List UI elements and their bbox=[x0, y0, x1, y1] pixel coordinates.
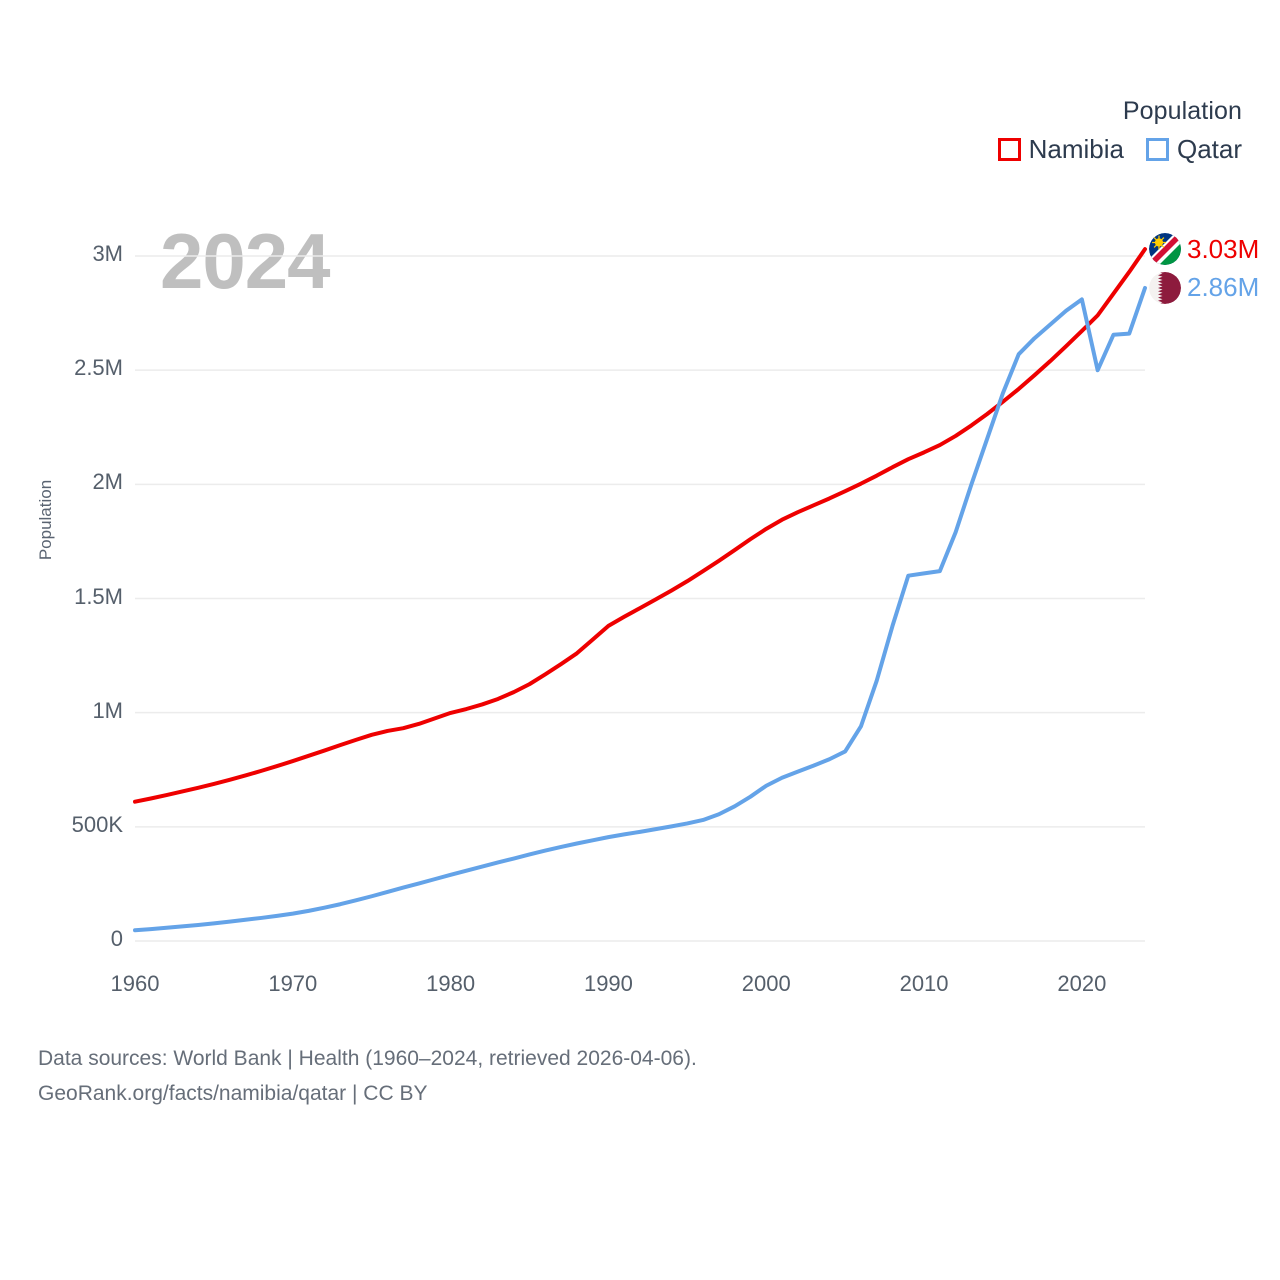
x-tick-label: 2010 bbox=[874, 971, 974, 997]
y-tick-label: 500K bbox=[72, 812, 123, 838]
end-value-qatar: 2.86M bbox=[1187, 272, 1259, 303]
x-tick-label: 1970 bbox=[243, 971, 343, 997]
footer-line-sources: Data sources: World Bank | Health (1960–… bbox=[38, 1042, 697, 1077]
x-tick-label: 2020 bbox=[1032, 971, 1132, 997]
population-line-chart: Population Namibia Qatar 2024 Population… bbox=[0, 0, 1280, 1280]
x-tick-label: 1990 bbox=[558, 971, 658, 997]
x-tick-label: 1960 bbox=[85, 971, 185, 997]
series-line-namibia bbox=[135, 249, 1145, 802]
y-tick-label: 2.5M bbox=[74, 355, 123, 381]
x-tick-label: 1980 bbox=[401, 971, 501, 997]
y-tick-label: 1.5M bbox=[74, 584, 123, 610]
x-tick-label: 2000 bbox=[716, 971, 816, 997]
y-tick-label: 0 bbox=[111, 926, 123, 952]
gridlines bbox=[135, 256, 1145, 941]
y-tick-label: 2M bbox=[92, 469, 123, 495]
y-tick-label: 3M bbox=[92, 241, 123, 267]
series-lines bbox=[135, 249, 1145, 930]
y-tick-label: 1M bbox=[92, 698, 123, 724]
footer-line-link[interactable]: GeoRank.org/facts/namibia/qatar | CC BY bbox=[38, 1077, 697, 1112]
end-label-qatar: 2.86M bbox=[1149, 272, 1259, 304]
footer-attribution: Data sources: World Bank | Health (1960–… bbox=[38, 1042, 697, 1111]
qatar-flag-icon bbox=[1149, 272, 1181, 304]
namibia-flag-icon bbox=[1149, 233, 1181, 265]
end-value-namibia: 3.03M bbox=[1187, 234, 1259, 265]
end-label-namibia: 3.03M bbox=[1149, 233, 1259, 265]
